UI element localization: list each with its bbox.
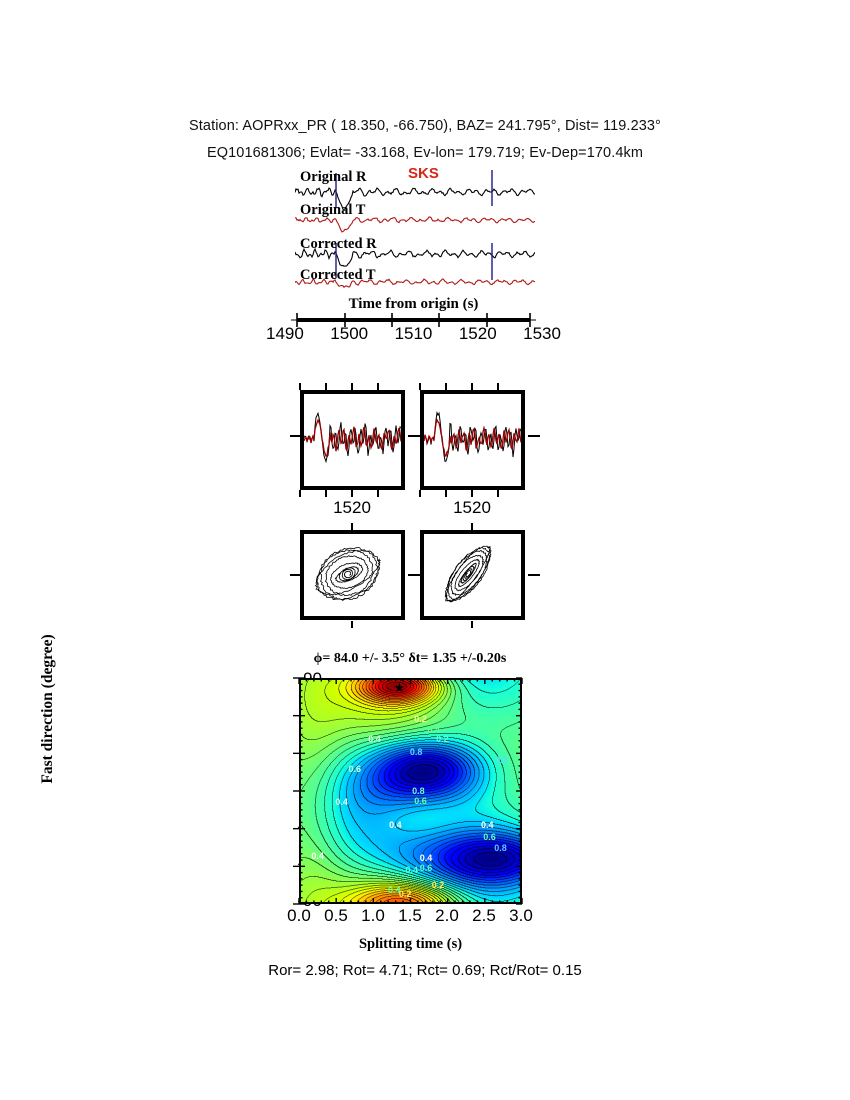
xtick-3.0: 3.0 [499, 906, 543, 926]
sks-phase-label: SKS [408, 165, 439, 182]
trace-label-corrected-t: Corrected T [300, 267, 376, 284]
time-tick-1530: 1530 [523, 324, 561, 344]
zoom-left-time-label: 1520 [297, 498, 407, 518]
waveform-panel: SKS Original R Original T Corrected R Co… [295, 170, 535, 300]
trace-1 [295, 217, 535, 232]
time-tick-1510: 1510 [395, 324, 433, 344]
contour-axis-ticks [286, 671, 536, 911]
zoom-box-ticks [284, 383, 542, 499]
contour-ylabel: Fast direction (degree) [39, 604, 57, 814]
trace-label-original-r: Original R [300, 169, 366, 186]
time-axis: Time from origin (s) 1490 1500 1510 1520… [291, 300, 536, 350]
time-tick-1520: 1520 [459, 324, 497, 344]
contour-xlabel: Splitting time (s) [299, 936, 522, 953]
contour-title: ϕ= 84.0 +/- 3.5° δt= 1.35 +/-0.20s [235, 651, 585, 667]
event-info-line: EQ101681306; Evlat= -33.168, Ev-lon= 179… [0, 145, 850, 161]
particle-motion-ticks [284, 523, 542, 629]
trace-label-original-t: Original T [300, 202, 365, 219]
figure-page: Station: AOPRxx_PR ( 18.350, -66.750), B… [0, 0, 850, 1100]
quality-ratios-footer: Ror= 2.98; Rot= 4.71; Rct= 0.69; Rct/Rot… [0, 962, 850, 979]
zoom-right-time-label: 1520 [417, 498, 527, 518]
station-info-line: Station: AOPRxx_PR ( 18.350, -66.750), B… [0, 118, 850, 134]
trace-label-corrected-r: Corrected R [300, 236, 377, 253]
time-axis-ticklabels: 1490 1500 1510 1520 1530 [266, 324, 561, 344]
time-tick-1490: 1490 [266, 324, 304, 344]
time-tick-1500: 1500 [330, 324, 368, 344]
